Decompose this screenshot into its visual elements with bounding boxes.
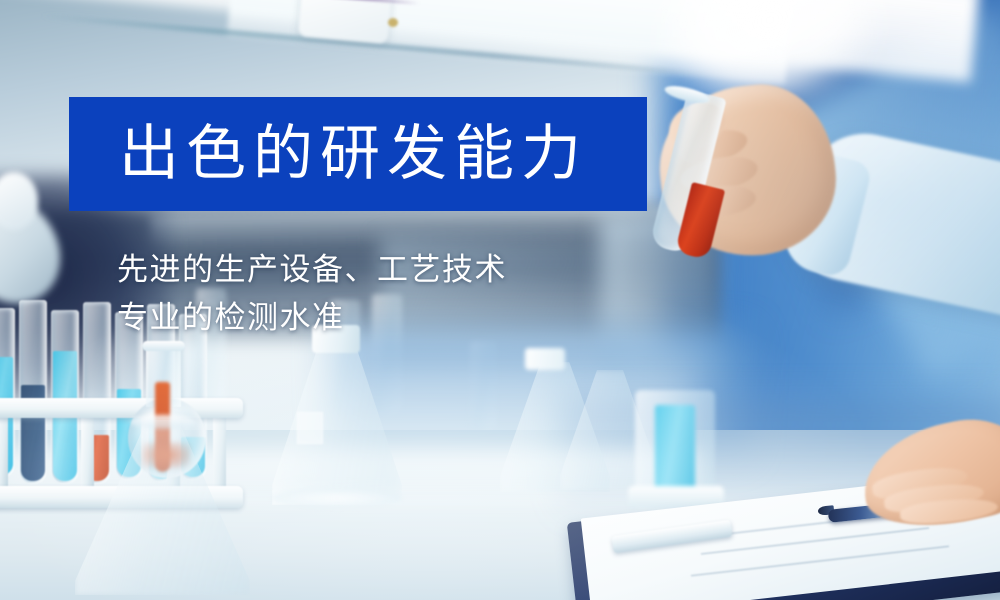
headline-banner: 出色的研发能力 — [69, 97, 647, 211]
light-fixture-screw — [388, 18, 398, 27]
round-bottom-flask-lip — [142, 341, 185, 351]
subtitle-line-1: 先进的生产设备、工艺技术 — [117, 246, 507, 294]
page-title: 出色的研发能力 — [119, 124, 588, 184]
erlenmeyer-flask-label — [297, 412, 323, 444]
rack-post — [0, 406, 8, 494]
rack-test-tube — [51, 310, 79, 484]
rack-post — [81, 406, 94, 494]
erlenmeyer-flask-base — [272, 488, 402, 508]
rack-test-tube — [19, 300, 47, 484]
rack-upper-bar — [0, 398, 243, 418]
subtitle-line-2: 专业的检测水准 — [117, 294, 507, 342]
erlenmeyer-flask-right-neck — [525, 348, 565, 370]
light-fixture-housing — [298, 0, 392, 44]
lab-capability-banner: 出色的研发能力 先进的生产设备、工艺技术 专业的检测水准 — [0, 0, 1000, 600]
subtitle-block: 先进的生产设备、工艺技术 专业的检测水准 — [117, 246, 507, 342]
foreground-erlenmeyer-rim — [130, 415, 196, 429]
graduated-cylinder-blue-liquid — [655, 405, 695, 497]
